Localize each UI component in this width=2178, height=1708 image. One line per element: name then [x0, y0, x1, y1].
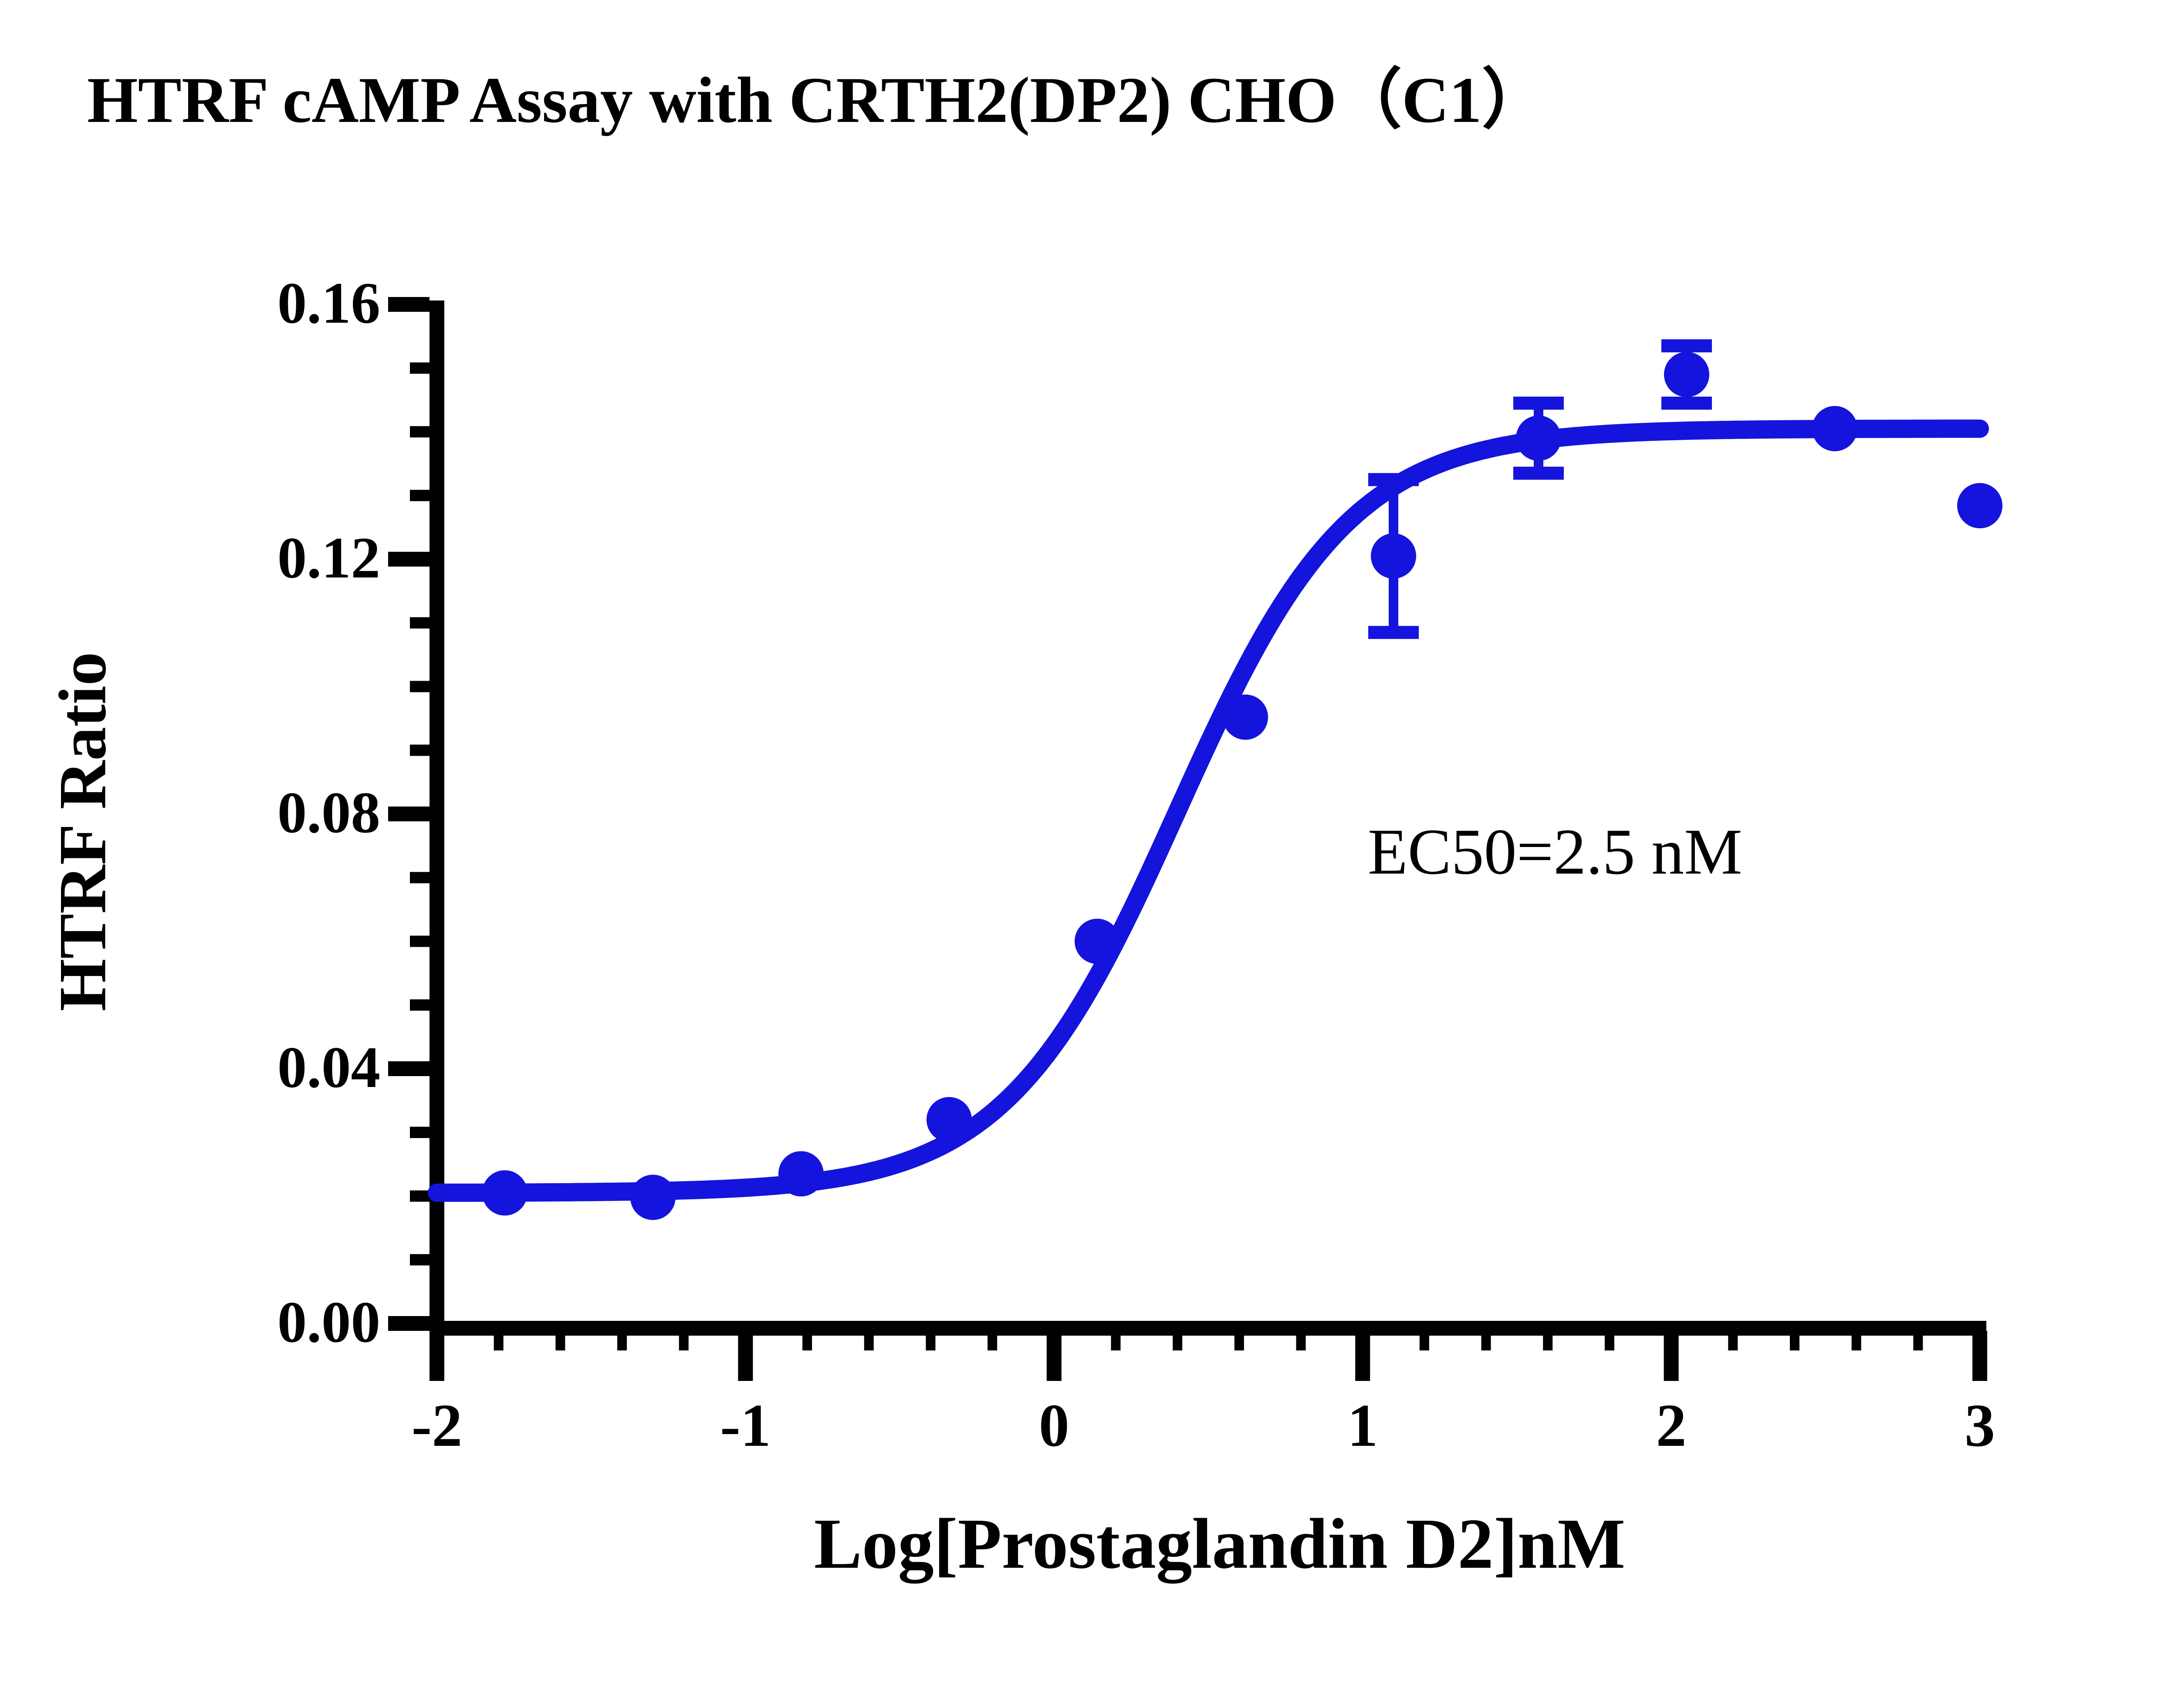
x-tick-label: 1 [1275, 1395, 1450, 1456]
y-tick-label: 0.12 [45, 529, 380, 587]
data-point-marker [1371, 533, 1416, 579]
x-tick-label: -1 [658, 1395, 832, 1456]
fit-curve-line [437, 429, 1980, 1192]
data-point-marker [778, 1151, 824, 1196]
data-point-marker [1664, 352, 1709, 397]
data-markers [482, 352, 2002, 1220]
fit-curve [437, 429, 1980, 1192]
x-tick-label: -2 [350, 1395, 524, 1456]
data-point-marker [1957, 483, 2002, 528]
x-tick-label: 2 [1584, 1395, 1759, 1456]
data-point-marker [927, 1097, 972, 1142]
x-axis-major-ticks [437, 1331, 1980, 1381]
y-axis-title: HTRF Ratio [44, 592, 122, 1071]
ec50-annotation: EC50=2.5 nM [1368, 814, 1742, 889]
chart-figure: HTRF cAMP Assay with CRTH2(DP2) CHO（C1） … [0, 0, 2178, 1708]
axis-lines [430, 300, 1986, 1328]
y-tick-label: 0.16 [45, 274, 380, 333]
data-point-marker [482, 1170, 528, 1215]
data-point-marker [1075, 919, 1120, 964]
x-axis-title: Log[Prostaglandin D2]nM [436, 1502, 2004, 1585]
x-tick-label: 3 [1893, 1395, 2067, 1456]
x-tick-label: 0 [967, 1395, 1141, 1456]
data-point-marker [1516, 415, 1561, 461]
y-axis-major-ticks [388, 304, 430, 1323]
error-bars [1368, 346, 1712, 632]
data-point-marker [630, 1175, 676, 1220]
data-point-marker [1223, 695, 1268, 740]
data-point-marker [1812, 406, 1857, 451]
y-tick-label: 0.00 [45, 1293, 380, 1352]
